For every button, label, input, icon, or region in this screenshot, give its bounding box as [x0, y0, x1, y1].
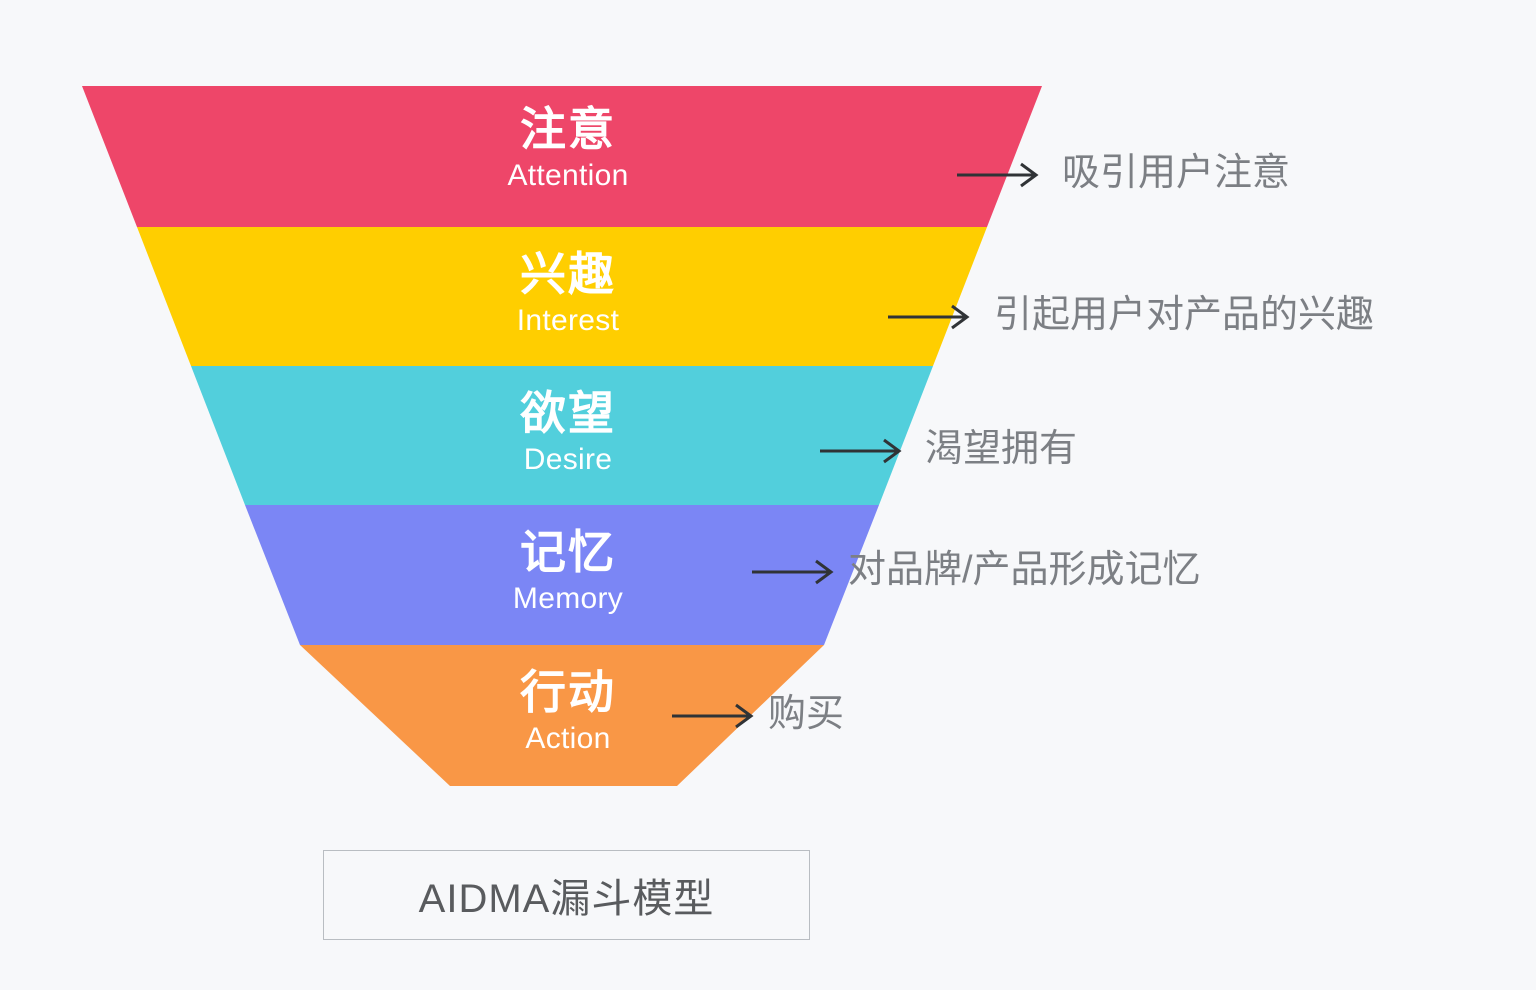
- funnel-bands: [82, 86, 1042, 786]
- diagram-title: AIDMA漏斗模型: [419, 866, 715, 924]
- funnel-graphic: [0, 0, 1536, 990]
- diagram-title-box: AIDMA漏斗模型: [323, 850, 810, 940]
- annotation-attention: 吸引用户注意: [1062, 154, 1290, 192]
- annotation-desire: 渴望拥有: [925, 430, 1077, 468]
- annotation-memory: 对品牌/产品形成记忆: [848, 551, 1201, 589]
- funnel-diagram-canvas: 注意 Attention 兴趣 Interest 欲望 Desire 记忆 Me…: [0, 0, 1536, 990]
- funnel-band-desire: [191, 366, 933, 505]
- funnel-band-attention: [82, 86, 1042, 227]
- annotation-interest: 引起用户对产品的兴趣: [994, 296, 1374, 334]
- annotation-action: 购买: [768, 695, 844, 733]
- funnel-band-interest: [137, 227, 987, 366]
- funnel-band-memory: [245, 505, 879, 645]
